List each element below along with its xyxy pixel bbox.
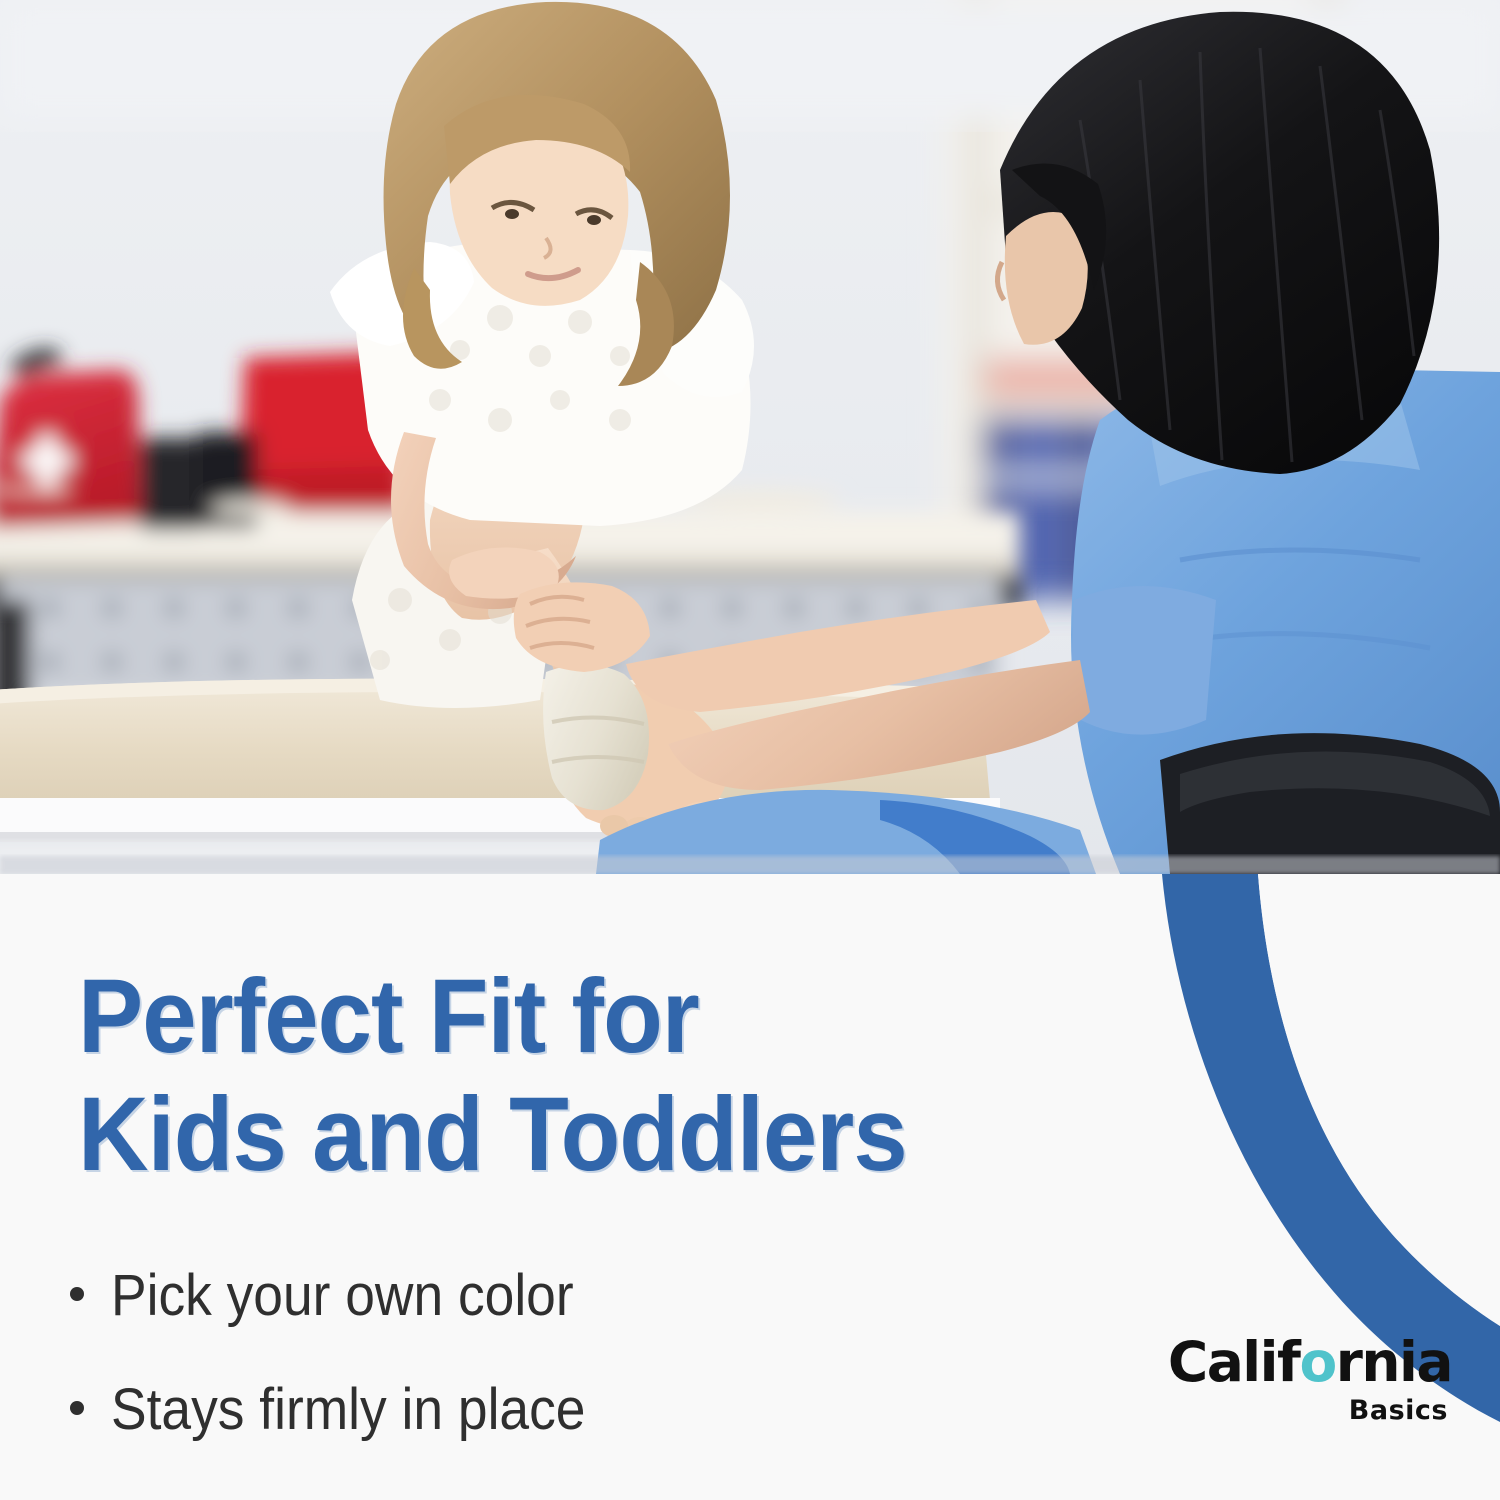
first-aid-bag (0, 370, 140, 528)
bullet-dot-icon (70, 1401, 84, 1415)
brand-name-part1: Calif (1168, 1330, 1300, 1394)
bullet-label: Stays firmly in place (111, 1378, 585, 1442)
product-feature-poster: Perfect Fit for Kids and Toddlers Pick y… (0, 0, 1500, 1500)
brand-name-part2: rnia (1336, 1330, 1452, 1394)
list-item: Pick your own color (70, 1264, 970, 1328)
bullet-dot-icon (70, 1287, 84, 1301)
bullet-label: Pick your own color (111, 1264, 574, 1328)
list-item: Stays firmly in place (70, 1378, 970, 1442)
promo-panel: Perfect Fit for Kids and Toddlers Pick y… (0, 874, 1500, 1500)
page-title: Perfect Fit for Kids and Toddlers (78, 958, 1101, 1194)
black-container-left (140, 438, 204, 530)
clinic-scene-illustration (0, 0, 1500, 874)
brand-tagline: Basics (1168, 1397, 1448, 1424)
brand-name: California (1168, 1335, 1452, 1390)
elastic-bandage (543, 664, 649, 810)
nurse-sleeve (1070, 586, 1216, 735)
brand-name-accent-o: o (1299, 1330, 1335, 1394)
feature-bullet-list: Pick your own color Stays firmly in plac… (70, 1264, 970, 1492)
brand-logo: California Basics (1168, 1335, 1452, 1424)
hero-photo (0, 0, 1500, 874)
